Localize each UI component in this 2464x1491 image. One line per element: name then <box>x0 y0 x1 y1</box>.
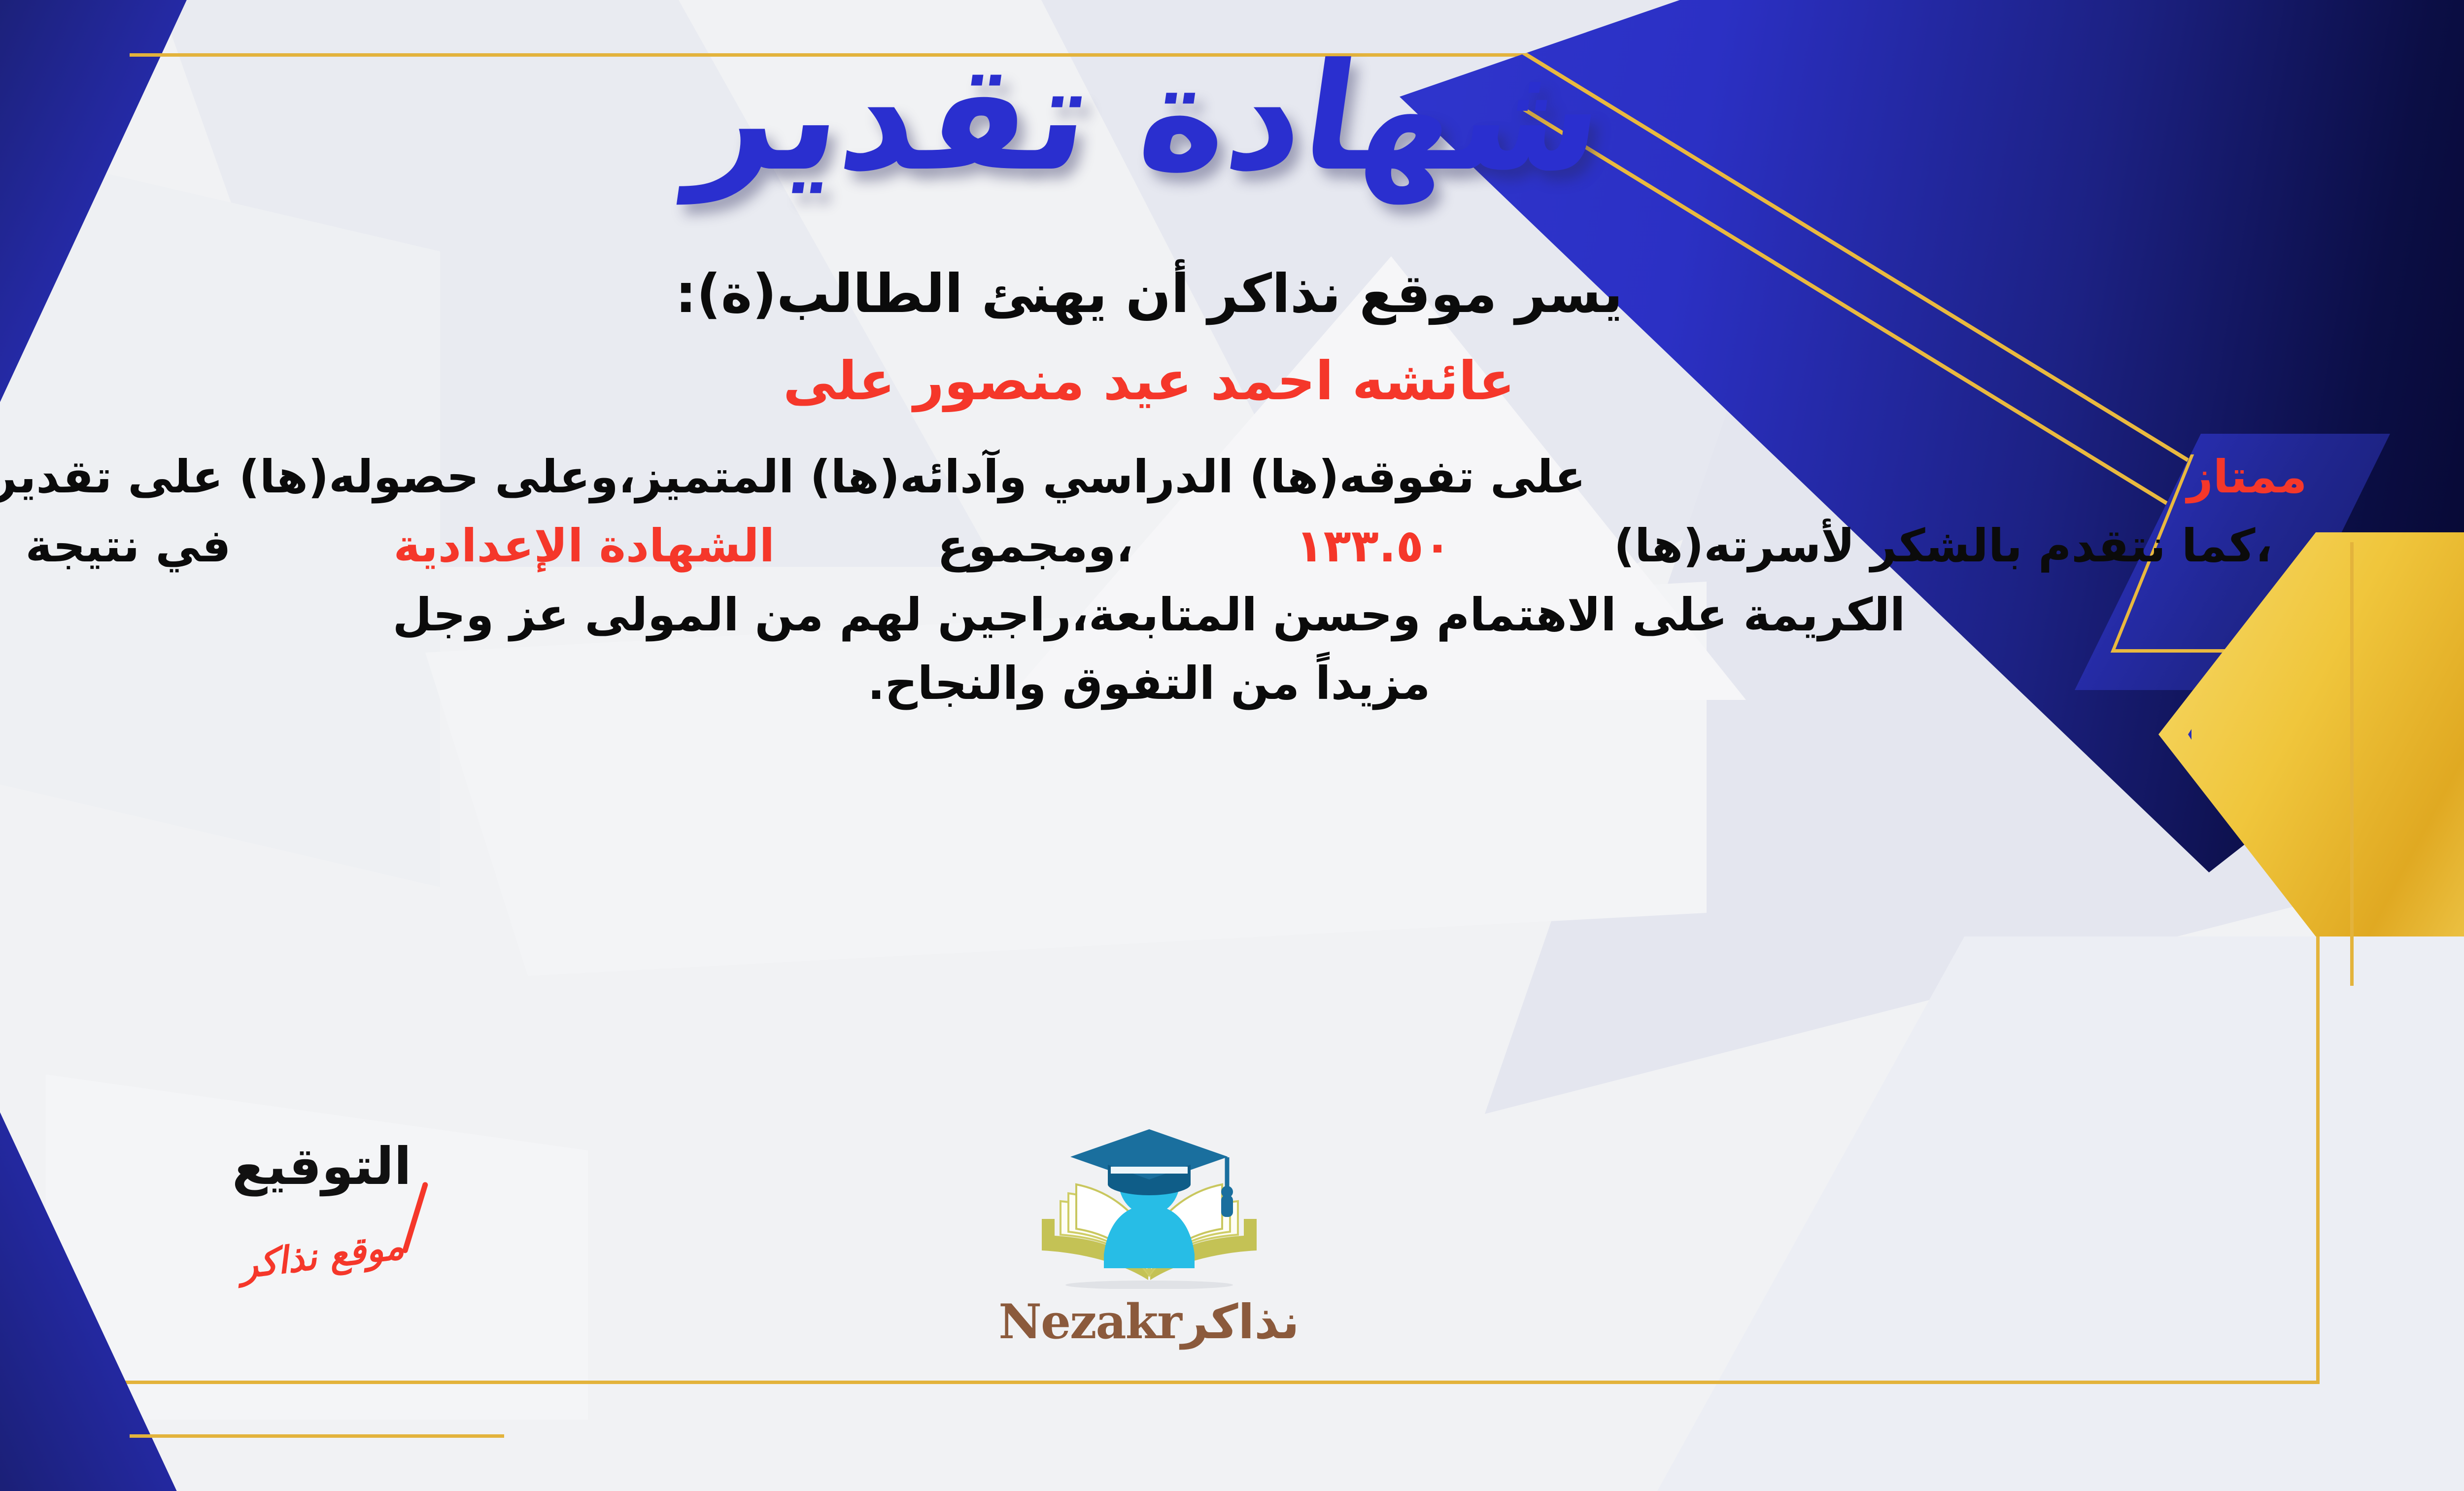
body-line-2-mid-text: ،ومجموع <box>937 512 1133 581</box>
body-line-2: ،كما نتقدم بالشكر لأسرته(ها) ١٣٣.٥٠ ،ومج… <box>26 512 2273 581</box>
body-line-1: ممتاز على تفوقه(ها) الدراسي وآدائه(ها) ا… <box>0 443 2307 512</box>
certificate-page: شهادة تقدير يسر موقع نذاكر أن يهنئ الطال… <box>0 0 2464 1491</box>
brand-name-arabic: نذاكر <box>1181 1294 1300 1350</box>
signature-handwritten: موقع نذاكر <box>238 1225 406 1287</box>
brand-logo-text: Nezakrنذاكر <box>962 1294 1336 1350</box>
student-name: عائشه احمد عيد منصور على <box>783 350 1515 412</box>
body-line-1-text: على تفوقه(ها) الدراسي وآدائه(ها) المتميز… <box>0 443 1586 512</box>
brand-logo-block: Nezakrنذاكر <box>962 1126 1336 1350</box>
certificate-body: ممتاز على تفوقه(ها) الدراسي وآدائه(ها) ا… <box>0 443 2307 718</box>
exam-name-value: الشهادة الإعدادية <box>393 512 775 581</box>
grade-value: ممتاز <box>2187 443 2307 512</box>
body-line-2-right-text: في نتيجة <box>26 512 231 581</box>
certificate-title: شهادة تقدير <box>683 31 1615 205</box>
graduate-book-icon <box>1021 1126 1277 1289</box>
signature-label: التوقيع <box>149 1136 494 1196</box>
greeting-line: يسر موقع نذاكر أن يهنئ الطالب(ة): <box>675 263 1623 325</box>
certificate-content: شهادة تقدير يسر موقع نذاكر أن يهنئ الطال… <box>0 0 2464 1491</box>
signature-block: التوقيع موقع نذاكر <box>149 1136 494 1277</box>
brand-name-latin: Nezakr <box>998 1294 1181 1350</box>
body-line-2-left-text: ،كما نتقدم بالشكر لأسرته(ها) <box>1614 512 2273 581</box>
body-line-4: مزيداً من التفوق والنجاح. <box>0 649 2307 718</box>
certificate-footer: التوقيع موقع نذاكر <box>0 1126 2464 1432</box>
total-score-value: ١٣٣.٥٠ <box>1296 512 1451 581</box>
body-line-3: الكريمة على الاهتمام وحسن المتابعة،راجين… <box>0 581 2307 650</box>
